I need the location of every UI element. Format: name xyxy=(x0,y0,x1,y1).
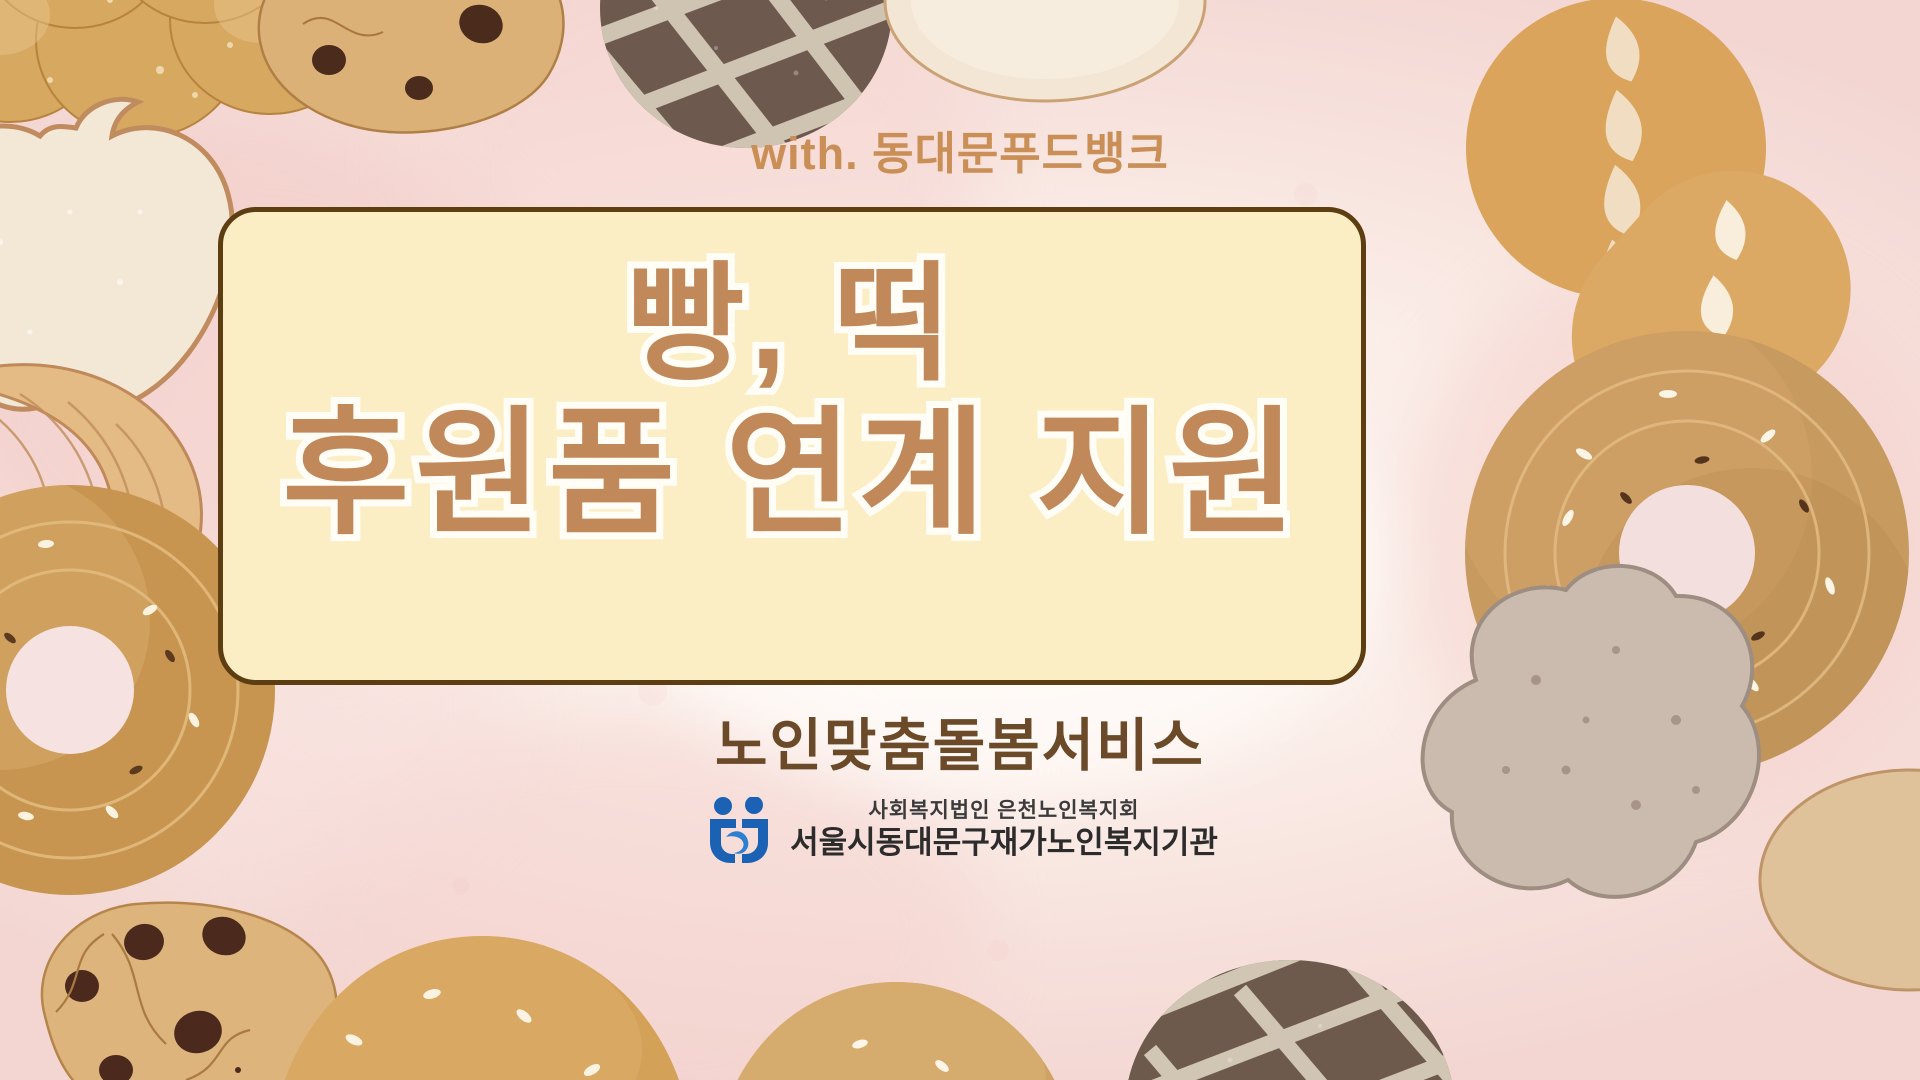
poster-canvas: with. 동대문푸드뱅크 빵, 떡 후원품 연계 지원 노인맞춤돌봄서비스 사… xyxy=(0,0,1920,1080)
page-title-line-2: 후원품 연계 지원 xyxy=(223,403,1361,547)
poster-content: with. 동대문푸드뱅크 빵, 떡 후원품 연계 지원 노인맞춤돌봄서비스 사… xyxy=(0,0,1920,1080)
page-title-line-1: 빵, 떡 xyxy=(223,258,1361,391)
with-partner-line: with. 동대문푸드뱅크 xyxy=(0,117,1920,182)
eun-cheon-welfare-logo-icon xyxy=(702,797,776,863)
title-card: 빵, 떡 후원품 연계 지원 xyxy=(218,207,1366,685)
title-block: 빵, 떡 후원품 연계 지원 xyxy=(223,258,1361,547)
footer-organization: 사회복지법인 은천노인복지회 서울시동대문구재가노인복지기관 xyxy=(0,797,1920,863)
organization-institution-name: 서울시동대문구재가노인복지기관 xyxy=(790,826,1218,861)
organization-names: 사회복지법인 은천노인복지회 서울시동대문구재가노인복지기관 xyxy=(790,799,1218,860)
organization-corporation-name: 사회복지법인 은천노인복지회 xyxy=(869,799,1140,823)
program-subtitle: 노인맞춤돌봄서비스 xyxy=(0,700,1920,782)
